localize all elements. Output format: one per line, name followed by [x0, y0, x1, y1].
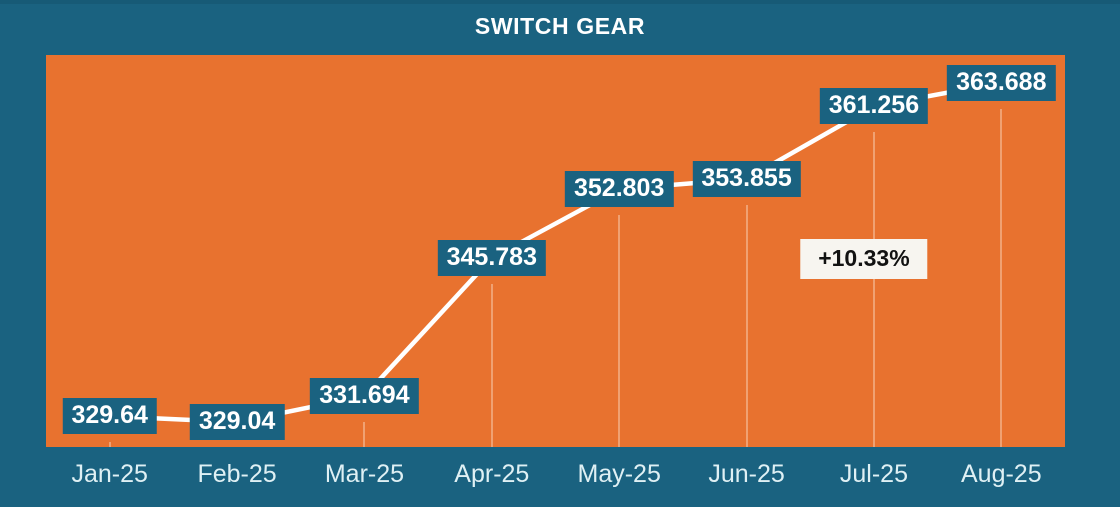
x-axis-tick-jun-25: Jun-25 [708, 462, 784, 487]
x-axis-tick-aug-25: Aug-25 [961, 462, 1042, 487]
x-axis-tick-may-25: May-25 [578, 462, 661, 487]
dropline [746, 205, 748, 447]
x-axis-tick-mar-25: Mar-25 [325, 462, 404, 487]
value-label: 331.694 [310, 378, 418, 414]
dropline [618, 215, 620, 447]
value-label: 345.783 [438, 240, 546, 276]
x-axis-tick-jul-25: Jul-25 [840, 462, 908, 487]
value-label: 363.688 [947, 65, 1055, 101]
value-label: 353.855 [692, 161, 800, 197]
x-axis-tick-apr-25: Apr-25 [454, 462, 529, 487]
value-label: 352.803 [565, 171, 673, 207]
value-label: 361.256 [820, 88, 928, 124]
dropline [1000, 109, 1002, 447]
page-title: SWITCH GEAR [0, 13, 1120, 40]
top-border-strip [0, 0, 1120, 4]
x-axis-tick-jan-25: Jan-25 [71, 462, 147, 487]
dropline [363, 422, 365, 447]
dropline [873, 132, 875, 447]
x-axis-tick-feb-25: Feb-25 [197, 462, 276, 487]
growth-badge: +10.33% [800, 239, 927, 279]
value-label: 329.04 [190, 404, 284, 440]
value-label: 329.64 [62, 398, 156, 434]
dropline [491, 284, 493, 447]
chart-canvas: SWITCH GEAR 329.64329.04331.694345.78335… [0, 0, 1120, 507]
dropline [109, 442, 111, 447]
